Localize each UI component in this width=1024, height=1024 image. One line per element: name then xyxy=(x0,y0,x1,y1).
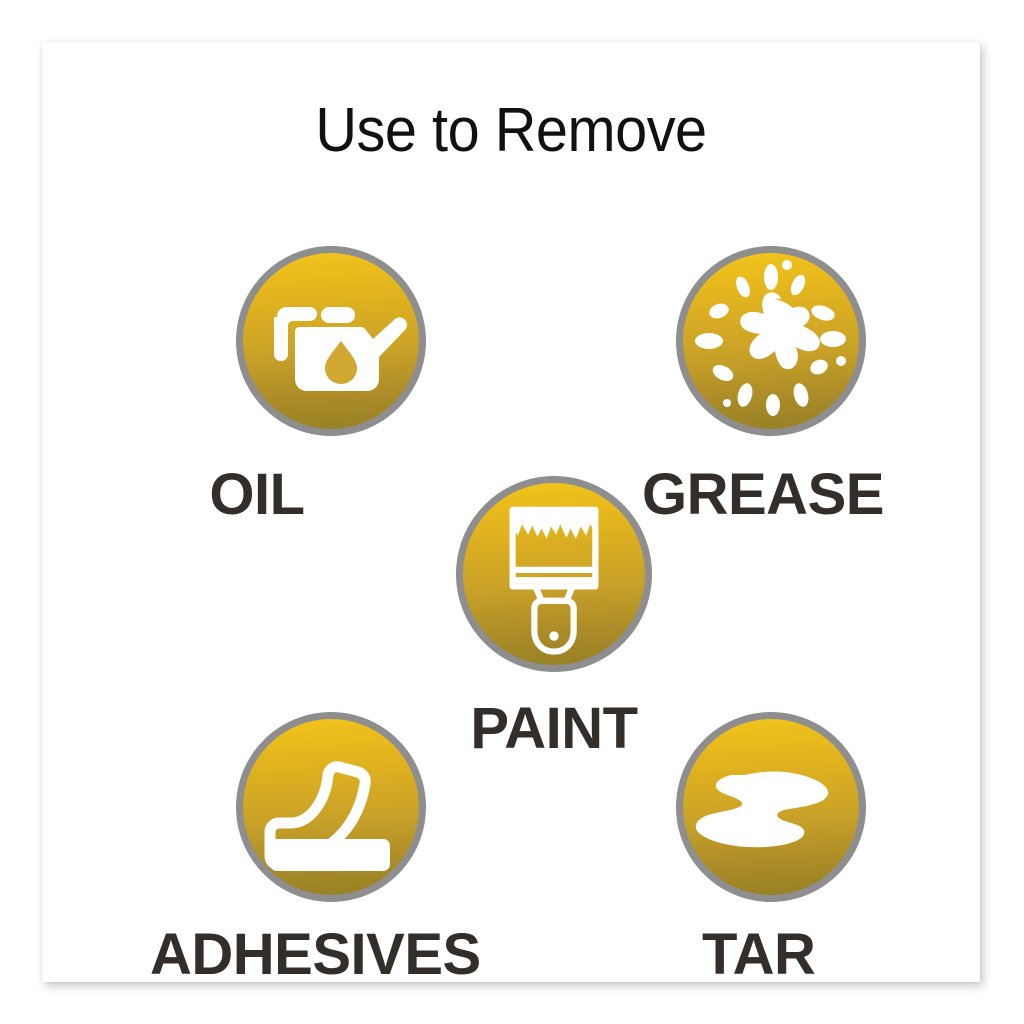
icon-label-paint: PAINT xyxy=(42,700,1024,758)
grease-splat-icon xyxy=(683,253,859,429)
icon-label-tar: TAR xyxy=(702,926,815,984)
icon-label-adhesives: ADHESIVES xyxy=(150,926,481,984)
icon-label-grease: GREASE xyxy=(642,466,884,524)
icon-badge-grease[interactable] xyxy=(676,246,866,436)
poster-canvas: Use to Remove OIL xyxy=(0,0,1024,1024)
paint-brush-icon xyxy=(463,483,645,665)
icon-badge-tar[interactable] xyxy=(676,712,866,902)
poster-card: Use to Remove OIL xyxy=(42,42,980,982)
tar-puddle-icon xyxy=(683,719,859,895)
icon-badge-paint[interactable] xyxy=(456,476,652,672)
peeling-adhesive-icon xyxy=(243,719,419,895)
icon-badge-adhesives[interactable] xyxy=(236,712,426,902)
icon-label-oil: OIL xyxy=(42,466,472,524)
page-title: Use to Remove xyxy=(75,100,947,162)
icon-badge-oil[interactable] xyxy=(236,246,426,436)
oil-can-icon xyxy=(243,253,419,429)
